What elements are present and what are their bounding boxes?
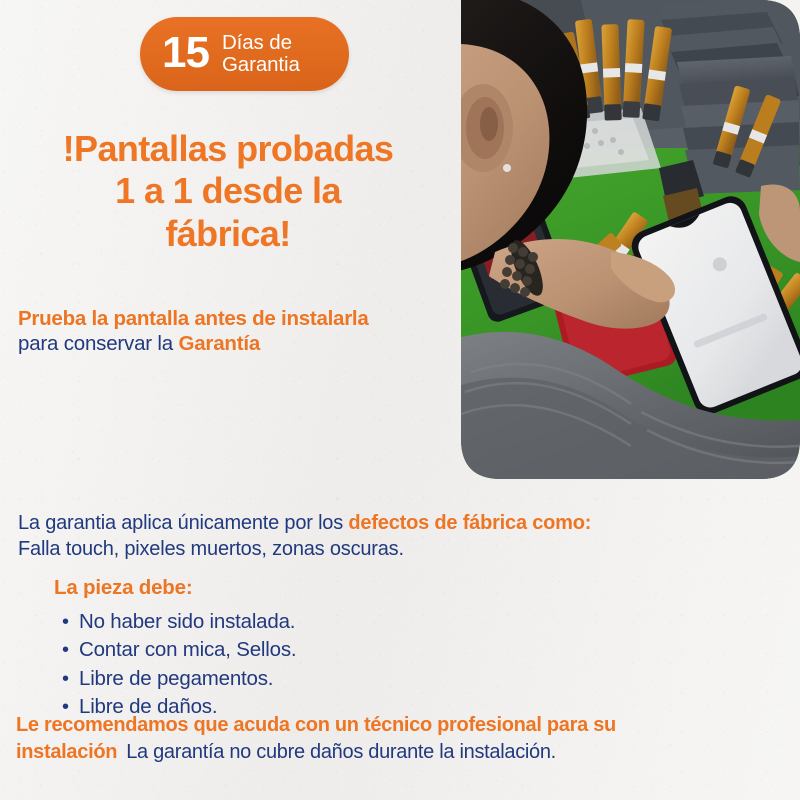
- bullet-icon: •: [62, 666, 79, 693]
- footer-emphasis-line-2: instalación: [16, 741, 117, 763]
- list-item-label: Libre de pegamentos.: [79, 665, 273, 693]
- warranty-scope-copy: La garantia aplica únicamente por los de…: [18, 510, 782, 563]
- warranty-badge-text: Días de Garantia: [222, 32, 300, 76]
- warranty-scope-line-1: La garantia aplica únicamente por los de…: [18, 510, 782, 536]
- footer-normal-tail: La garantía no cubre daños durante la in…: [126, 741, 556, 763]
- list-item-label: No haber sido instalada.: [79, 608, 295, 636]
- hero-line-2: 1 a 1 desde la: [0, 170, 456, 212]
- list-item: • Contar con mica, Sellos.: [62, 636, 296, 664]
- footer-emphasis-line-1: Le recomendamos que acuda con un técnico…: [16, 712, 786, 739]
- hero-line-1: !Pantallas probadas: [0, 128, 456, 170]
- list-item-label: Contar con mica, Sellos.: [79, 636, 296, 664]
- workshop-photo: A25: [461, 0, 800, 479]
- piece-conditions-heading: La pieza debe:: [54, 576, 192, 600]
- subheading-line-2: para conservar la Garantía: [18, 331, 458, 358]
- warranty-scope-emphasis: defectos de fábrica como:: [348, 512, 591, 534]
- hero-line-3: fábrica!: [0, 213, 456, 255]
- subheading-guarantee-emphasis: Garantía: [178, 332, 260, 355]
- hero-headline: !Pantallas probadas 1 a 1 desde la fábri…: [0, 128, 456, 255]
- subheading-block: Prueba la pantalla antes de instalarla p…: [18, 306, 458, 358]
- footer-recommendation: Le recomendamos que acuda con un técnico…: [16, 712, 786, 765]
- warranty-badge-line2: Garantia: [222, 53, 300, 76]
- subheading-line-2-prefix: para conservar la: [18, 332, 178, 355]
- piece-conditions-list: • No haber sido instalada. • Contar con …: [62, 608, 296, 722]
- bullet-icon: •: [62, 609, 79, 636]
- warranty-days-number: 15: [162, 31, 209, 75]
- subheading-line-1: Prueba la pantalla antes de instalarla: [18, 306, 458, 331]
- list-item: • Libre de pegamentos.: [62, 665, 296, 693]
- warranty-scope-line-2: Falla touch, pixeles muertos, zonas oscu…: [18, 536, 782, 562]
- list-item: • No haber sido instalada.: [62, 608, 296, 636]
- warranty-scope-prefix: La garantia aplica únicamente por los: [18, 512, 348, 534]
- promo-poster: 15 Días de Garantia !Pantallas probadas …: [0, 0, 800, 800]
- warranty-badge: 15 Días de Garantia: [140, 17, 349, 91]
- footer-line-2: instalaciónLa garantía no cubre daños du…: [16, 739, 786, 766]
- bullet-icon: •: [62, 637, 79, 664]
- warranty-badge-line1: Días de: [222, 31, 292, 54]
